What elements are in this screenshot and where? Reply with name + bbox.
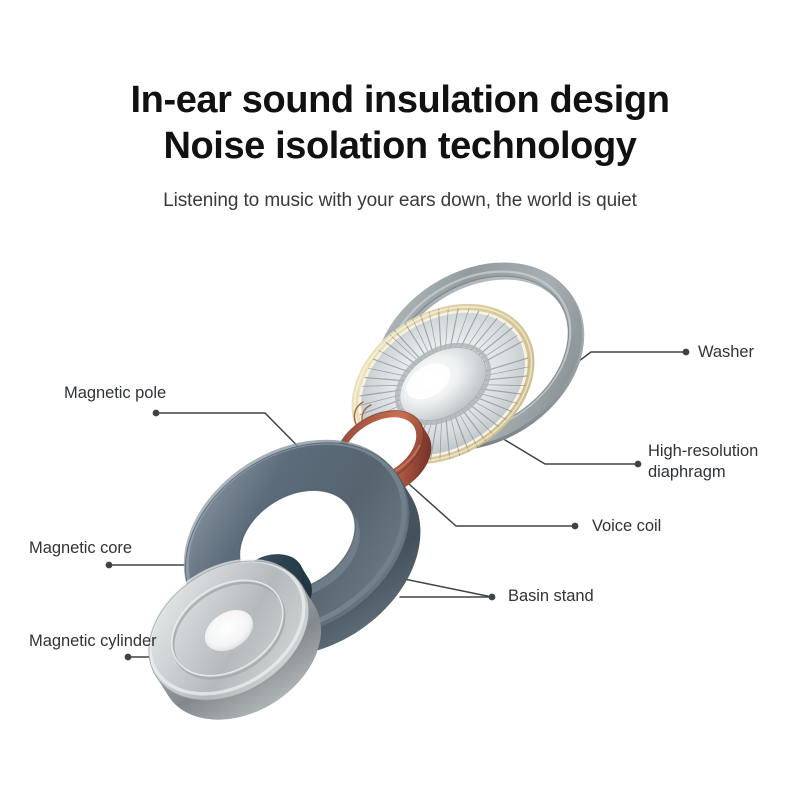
callout-label-high-resolution-diaphragm: High-resolution diaphragm: [648, 441, 780, 483]
callout-label-magnetic-cylinder: Magnetic cylinder: [29, 631, 157, 652]
callout-label-magnetic-core: Magnetic core: [29, 538, 132, 559]
callout-label-basin-stand: Basin stand: [508, 586, 594, 607]
infographic-page: In-ear sound insulation design Noise iso…: [0, 0, 800, 800]
callout-label-voice-coil: Voice coil: [592, 516, 661, 537]
callout-label-magnetic-pole: Magnetic pole: [64, 383, 166, 404]
leader-high-resolution-diaphragm: [505, 440, 641, 467]
leader-voice-coil: [409, 484, 578, 529]
callout-label-washer: Washer: [698, 342, 754, 363]
